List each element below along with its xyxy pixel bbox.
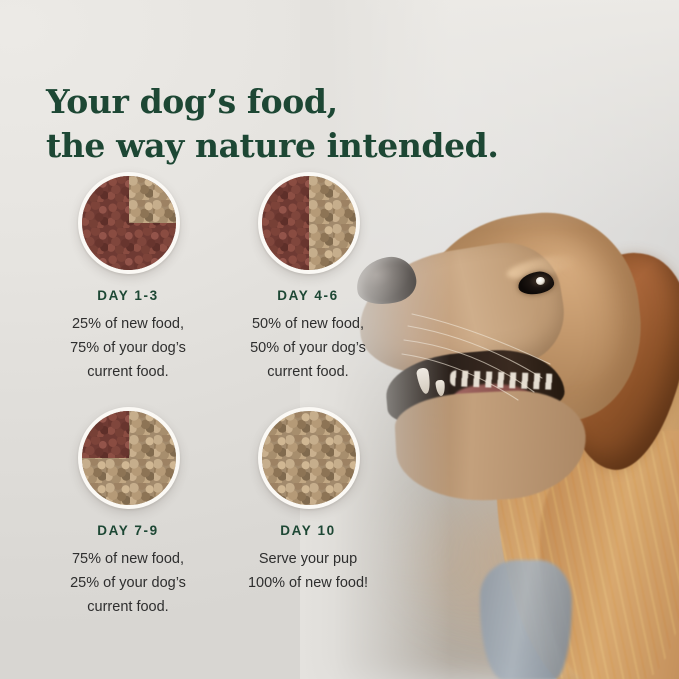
day-label-1: DAY 1-3: [28, 288, 228, 303]
desc-line: 25% of new food,: [28, 312, 228, 336]
desc-line: current food.: [28, 360, 228, 384]
desc-line: 100% of new food!: [208, 571, 408, 595]
desc-line: Serve your pup: [208, 547, 408, 571]
desc-line: 75% of your dog’s: [28, 336, 228, 360]
dog-eye-glint: [536, 277, 545, 285]
day-label-4: DAY 10: [208, 523, 408, 538]
day-label-3: DAY 7-9: [28, 523, 228, 538]
day-description-1: 25% of new food, 75% of your dog’s curre…: [28, 312, 228, 384]
desc-line: current food.: [28, 595, 228, 619]
step-day-10: DAY 10 Serve your pup 100% of new food!: [208, 403, 408, 595]
current-food-portion-2: [262, 176, 309, 270]
headline-line-1: Your dog’s food,: [46, 82, 338, 121]
bowl-day-10: [258, 407, 360, 509]
desc-line: 50% of your dog’s: [208, 336, 408, 360]
bowl-wrap-4: [208, 403, 408, 515]
infographic-canvas: Your dog’s food, the way nature intended…: [0, 0, 679, 679]
day-description-3: 75% of new food, 25% of your dog’s curre…: [28, 547, 228, 619]
bowl-wrap-2: [208, 168, 408, 280]
page-title: Your dog’s food, the way nature intended…: [46, 80, 516, 167]
bowl-4-contents: [262, 411, 356, 505]
bowl-wrap-3: [28, 403, 228, 515]
desc-line: 25% of your dog’s: [28, 571, 228, 595]
bowl-3-contents: [82, 411, 176, 505]
new-food-portion-4: [262, 411, 356, 505]
headline-line-2: the way nature intended.: [46, 124, 516, 168]
bowl-1-contents: [82, 176, 176, 270]
dog-collar: [480, 560, 572, 679]
day-description-2: 50% of new food, 50% of your dog’s curre…: [208, 312, 408, 384]
new-food-portion-1: [129, 176, 176, 223]
desc-line: 50% of new food,: [208, 312, 408, 336]
day-description-4: Serve your pup 100% of new food!: [208, 547, 408, 595]
current-food-portion-3: [82, 411, 129, 458]
bowl-day-4-6: [258, 172, 360, 274]
desc-line: 75% of new food,: [28, 547, 228, 571]
step-day-1-3: DAY 1-3 25% of new food, 75% of your dog…: [28, 168, 228, 384]
desc-line: current food.: [208, 360, 408, 384]
step-day-7-9: DAY 7-9 75% of new food, 25% of your dog…: [28, 403, 228, 619]
new-food-portion-2: [309, 176, 356, 270]
day-label-2: DAY 4-6: [208, 288, 408, 303]
step-day-4-6: DAY 4-6 50% of new food, 50% of your dog…: [208, 168, 408, 384]
bowl-day-1-3: [78, 172, 180, 274]
bowl-wrap-1: [28, 168, 228, 280]
bowl-2-contents: [262, 176, 356, 270]
bowl-day-7-9: [78, 407, 180, 509]
